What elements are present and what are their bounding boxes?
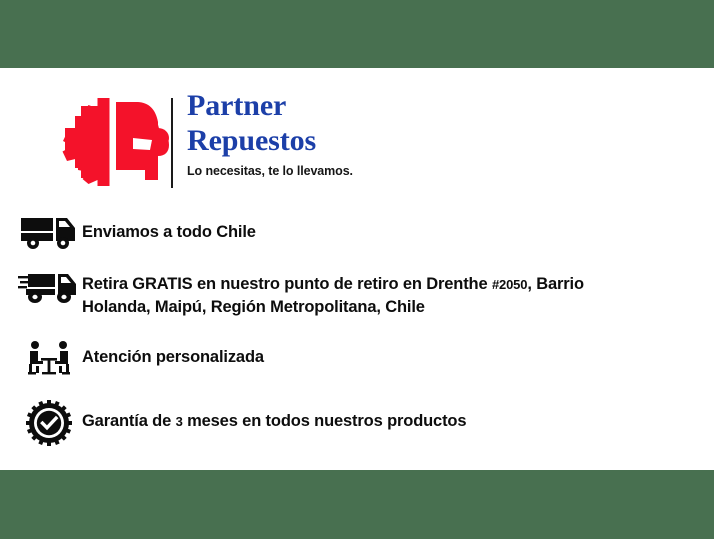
promo-banner: Partner Repuestos Lo necesitas, te lo ll… (0, 0, 719, 539)
meeting-people-icon (25, 340, 73, 378)
feature-row: Retira GRATIS en nuestro punto de retiro… (16, 271, 656, 319)
feature-icon-slot (16, 340, 82, 378)
brand-name-line2: Repuestos (187, 123, 477, 158)
warranty-badge-check-icon (26, 400, 72, 446)
feature-icon-slot (16, 271, 82, 305)
feature-row: Atención personalizada (16, 340, 264, 378)
brand-text: Partner Repuestos Lo necesitas, te lo ll… (187, 88, 477, 178)
gear-car-logo-icon (57, 94, 169, 186)
top-green-band (0, 0, 714, 68)
warranty-text-part2: meses en todos nuestros productos (183, 412, 467, 430)
feature-icon-slot (16, 216, 82, 250)
feature-row: Garantía de 3 meses en todos nuestros pr… (16, 400, 466, 446)
warranty-months-number: 3 (176, 414, 183, 429)
pickup-text-part1: Retira GRATIS en nuestro punto de retiro… (82, 275, 492, 293)
brand-tagline: Lo necesitas, te lo llevamos. (187, 164, 477, 178)
delivery-truck-icon (20, 216, 78, 250)
pickup-address-number: #2050 (492, 277, 527, 292)
feature-label: Garantía de 3 meses en todos nuestros pr… (82, 400, 466, 433)
fast-delivery-truck-icon (18, 271, 80, 305)
warranty-text-part1: Garantía de (82, 412, 176, 430)
feature-label: Atención personalizada (82, 340, 264, 369)
feature-icon-slot (16, 400, 82, 446)
feature-label: Enviamos a todo Chile (82, 216, 256, 244)
logo-block: Partner Repuestos Lo necesitas, te lo ll… (57, 92, 477, 192)
logo-divider (171, 98, 173, 188)
feature-label: Retira GRATIS en nuestro punto de retiro… (82, 271, 656, 319)
feature-row: Enviamos a todo Chile (16, 216, 256, 250)
bottom-green-band (0, 470, 714, 539)
brand-name-line1: Partner (187, 88, 477, 123)
